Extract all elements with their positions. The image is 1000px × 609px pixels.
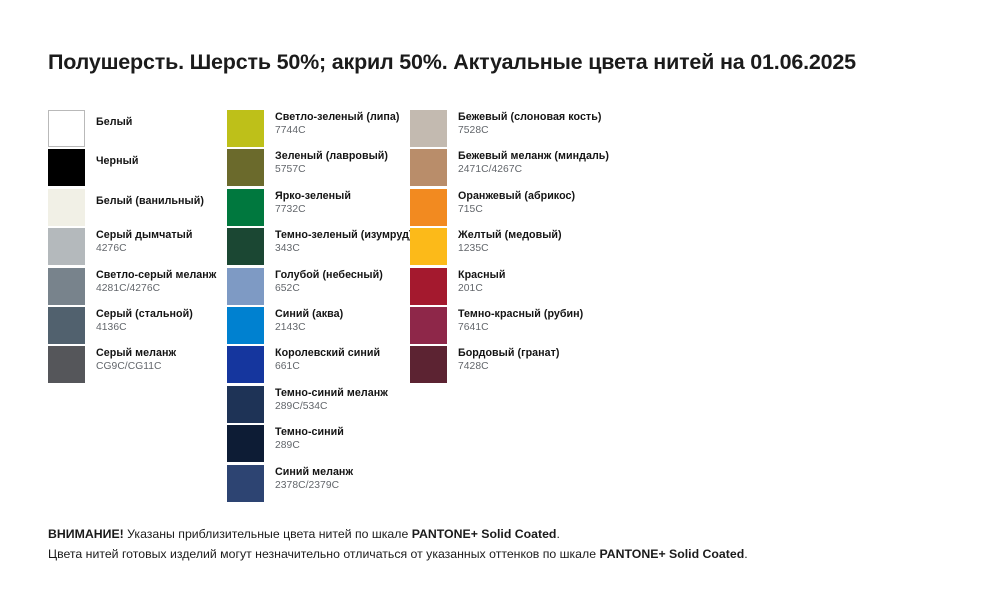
swatch-pantone-code: 7428C <box>458 360 658 373</box>
color-swatch <box>48 307 85 344</box>
swatch-labels: Бежевый меланж (миндаль)2471C/4267C <box>458 150 658 176</box>
color-swatch <box>227 346 264 383</box>
footer-line-2-text: Цвета нитей готовых изделий могут незнач… <box>48 547 599 561</box>
swatch-labels: Бежевый (слоновая кость)7528C <box>458 111 658 137</box>
swatch-row: Оранжевый (абрикос)715C <box>410 189 620 228</box>
swatch-column-neutrals: БелыйЧерныйБелый (ванильный)Серый дымчат… <box>48 110 226 386</box>
swatch-row: Красный201C <box>410 268 620 307</box>
swatch-column-greens-blues: Светло-зеленый (липа)7744CЗеленый (лавро… <box>227 110 410 504</box>
swatch-row: Бежевый меланж (миндаль)2471C/4267C <box>410 149 620 188</box>
swatch-row: Серый (стальной)4136C <box>48 307 226 346</box>
swatch-name: Бордовый (гранат) <box>458 347 658 360</box>
color-swatch <box>227 386 264 423</box>
swatch-name: Темно-красный (рубин) <box>458 308 658 321</box>
swatch-labels: Желтый (медовый)1235C <box>458 229 658 255</box>
swatch-labels: Темно-синий289C <box>275 426 445 452</box>
color-swatch <box>227 110 264 147</box>
color-swatch <box>227 189 264 226</box>
color-swatch <box>410 346 447 383</box>
color-swatch <box>227 465 264 502</box>
swatch-row: Белый <box>48 110 226 149</box>
swatch-row: Синий (аква)2143C <box>227 307 410 346</box>
swatch-row: Серый дымчатый4276C <box>48 228 226 267</box>
swatch-row: Светло-зеленый (липа)7744C <box>227 110 410 149</box>
swatch-name: Бежевый меланж (миндаль) <box>458 150 658 163</box>
swatch-labels: Темно-красный (рубин)7641C <box>458 308 658 334</box>
swatch-row: Светло-серый меланж4281C/4276C <box>48 268 226 307</box>
color-swatch <box>227 268 264 305</box>
swatch-pantone-code: 715C <box>458 203 658 216</box>
pantone-brand-1: PANTONE+ Solid Coated <box>412 527 557 541</box>
color-swatch <box>227 149 264 186</box>
footer-line-2-period: . <box>744 547 747 561</box>
swatch-column-warm-reds: Бежевый (слоновая кость)7528CБежевый мел… <box>410 110 620 386</box>
swatch-row: Зеленый (лавровый)5757C <box>227 149 410 188</box>
color-swatch <box>410 110 447 147</box>
swatch-row: Голубой (небесный)652C <box>227 268 410 307</box>
swatch-pantone-code: 1235C <box>458 242 658 255</box>
color-swatch <box>227 307 264 344</box>
footer-line-2: Цвета нитей готовых изделий могут незнач… <box>48 544 948 564</box>
color-swatch <box>48 149 85 186</box>
color-swatch <box>48 346 85 383</box>
pantone-brand-2: PANTONE+ Solid Coated <box>599 547 744 561</box>
color-swatch <box>48 189 85 226</box>
swatch-row: Темно-красный (рубин)7641C <box>410 307 620 346</box>
swatch-row: Серый меланжCG9C/CG11C <box>48 346 226 385</box>
swatch-name: Темно-синий <box>275 426 445 439</box>
color-swatch <box>410 307 447 344</box>
color-swatch <box>410 189 447 226</box>
color-swatch <box>48 228 85 265</box>
swatch-name: Бежевый (слоновая кость) <box>458 111 658 124</box>
footer-note: ВНИМАНИЕ! Указаны приблизительные цвета … <box>48 524 948 564</box>
footer-line-1-text: Указаны приблизительные цвета нитей по ш… <box>124 527 412 541</box>
footer-line-1: ВНИМАНИЕ! Указаны приблизительные цвета … <box>48 524 948 544</box>
footer-line-1-period: . <box>556 527 559 541</box>
footer-attention-label: ВНИМАНИЕ! <box>48 527 124 541</box>
swatch-name: Синий меланж <box>275 466 445 479</box>
swatch-row: Бордовый (гранат)7428C <box>410 346 620 385</box>
color-chart-page: Полушерсть. Шерсть 50%; акрил 50%. Актуа… <box>0 0 1000 609</box>
swatch-name: Темно-синий меланж <box>275 387 445 400</box>
swatch-pantone-code: 2471C/4267C <box>458 163 658 176</box>
swatch-pantone-code: 7528C <box>458 124 658 137</box>
swatch-labels: Оранжевый (абрикос)715C <box>458 190 658 216</box>
color-swatch <box>227 228 264 265</box>
swatch-row: Темно-зеленый (изумруд)343C <box>227 228 410 267</box>
swatch-pantone-code: 289C <box>275 439 445 452</box>
swatch-row: Королевский синий661C <box>227 346 410 385</box>
swatch-name: Красный <box>458 269 658 282</box>
swatch-labels: Красный201C <box>458 269 658 295</box>
swatch-pantone-code: 7641C <box>458 321 658 334</box>
swatch-row: Белый (ванильный) <box>48 189 226 228</box>
swatch-row: Желтый (медовый)1235C <box>410 228 620 267</box>
swatch-name: Желтый (медовый) <box>458 229 658 242</box>
swatch-labels: Темно-синий меланж289C/534C <box>275 387 445 413</box>
swatch-row: Ярко-зеленый7732C <box>227 189 410 228</box>
color-swatch <box>227 425 264 462</box>
swatch-row: Темно-синий289C <box>227 425 410 464</box>
swatch-name: Оранжевый (абрикос) <box>458 190 658 203</box>
swatch-labels: Бордовый (гранат)7428C <box>458 347 658 373</box>
swatch-labels: Синий меланж2378C/2379C <box>275 466 445 492</box>
color-swatch <box>48 268 85 305</box>
swatch-row: Бежевый (слоновая кость)7528C <box>410 110 620 149</box>
swatch-pantone-code: 201C <box>458 282 658 295</box>
swatch-row: Черный <box>48 149 226 188</box>
page-title: Полушерсть. Шерсть 50%; акрил 50%. Актуа… <box>48 50 856 75</box>
swatch-pantone-code: 289C/534C <box>275 400 445 413</box>
color-swatch <box>410 268 447 305</box>
color-swatch <box>410 149 447 186</box>
swatch-pantone-code: 2378C/2379C <box>275 479 445 492</box>
swatch-row: Синий меланж2378C/2379C <box>227 465 410 504</box>
swatch-row: Темно-синий меланж289C/534C <box>227 386 410 425</box>
color-swatch <box>48 110 85 147</box>
color-swatch <box>410 228 447 265</box>
